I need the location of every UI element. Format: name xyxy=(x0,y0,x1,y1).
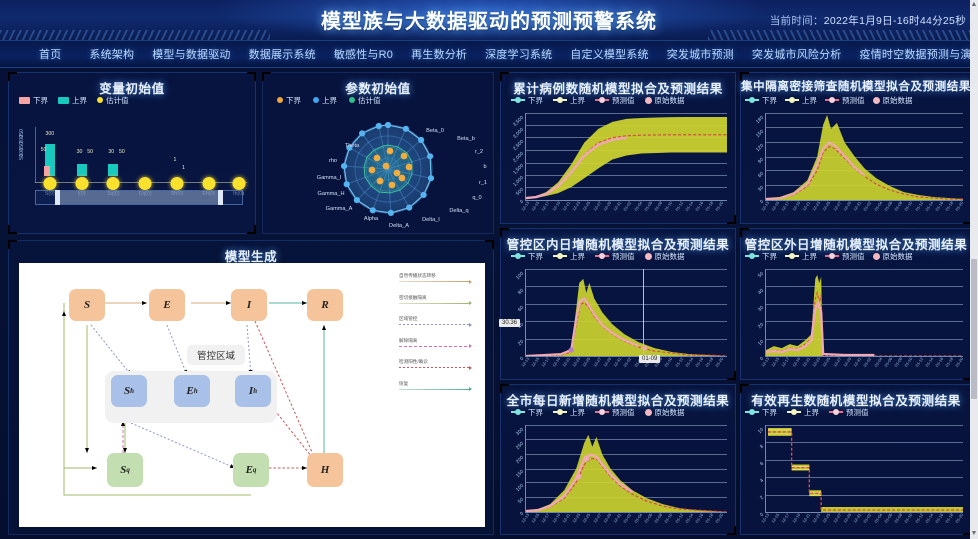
legend-label: 预测值 xyxy=(612,407,635,418)
y-tick: 20 xyxy=(507,339,525,357)
corner-decoration xyxy=(8,225,17,234)
series-paths xyxy=(766,113,963,200)
legend-label: 预测值 xyxy=(612,251,635,262)
legend-label: 检测阳性/确诊 xyxy=(399,359,479,365)
panel-chart-effective-reproduction: 有效再生数随机模型拟合及预测结果 下界 上界 预测值 10 8 6 4 2 0 xyxy=(740,384,972,535)
series-paths xyxy=(526,113,727,200)
legend-line-icon xyxy=(399,303,471,304)
series-paths xyxy=(766,269,963,356)
x-axis-ticks: 12-1312-15 12-1712-19 12-2112-23 12-2512… xyxy=(765,513,963,530)
estimate-point[interactable] xyxy=(202,177,215,190)
legend-label: 上界 xyxy=(570,95,585,106)
legend-item-predicted[interactable]: 预测值 xyxy=(595,251,635,262)
radar-axis-label-alpha: Alpha xyxy=(364,216,378,222)
legend-label: 下界 xyxy=(528,95,543,106)
radar-axis-label-r2: r_2 xyxy=(475,149,483,155)
zoom-slider-handle-right[interactable] xyxy=(218,190,223,205)
node-label: E xyxy=(186,385,193,397)
value-label: 1 xyxy=(182,165,185,171)
node-label: I xyxy=(247,299,251,311)
main-nav: 首页 系统架构 模型与数据驱动 数据展示系统 敏感性与R0 再生数分析 深度学习… xyxy=(0,40,978,68)
nav-item-home[interactable]: 首页 xyxy=(36,44,64,64)
y-tick: 2 xyxy=(747,495,765,513)
legend-swatch-icon xyxy=(645,253,652,260)
legend-label: 预测值 xyxy=(842,95,865,106)
nav-item-architecture[interactable]: 系统架构 xyxy=(86,44,137,64)
legend-item-predicted[interactable]: 预测值 xyxy=(829,407,869,418)
value-label: 50 xyxy=(41,147,47,153)
legend-label: 下界 xyxy=(33,95,48,106)
chart-title-outside-zone: 管控区外日增随机模型拟合及预测结果 xyxy=(741,229,971,249)
nav-item-sensitivity-r0[interactable]: 敏感性与R0 xyxy=(331,44,396,64)
legend-line-icon xyxy=(399,367,471,368)
nav-item-reproduction[interactable]: 再生数分析 xyxy=(408,44,470,64)
legend-item-raw[interactable]: 原始数据 xyxy=(645,95,685,106)
series-paths xyxy=(526,425,727,512)
scroll-down-arrow-icon[interactable]: ▼ xyxy=(970,529,978,539)
chart-outside-zone[interactable]: 50 40 30 20 10 0 12-1312-15 xyxy=(741,263,971,375)
x-axis-ticks: 12-1312-15 12-1712-19 12-2112-23 12-2512… xyxy=(765,201,963,218)
value-label: 50 xyxy=(119,149,125,155)
panel-chart-central-quarantine: 集中隔离密接筛查随机模型拟合及预测结果 下界 上界 预测值 原始数据 180 1… xyxy=(740,72,972,224)
legend-item-upper[interactable]: 上界 xyxy=(553,407,585,418)
legend-swatch-icon xyxy=(873,253,880,260)
page-scrollbar[interactable]: ▲ ▼ xyxy=(970,0,978,539)
legend-item-upper[interactable]: 上界 xyxy=(787,407,819,418)
legend-item-estimate[interactable]: 估计值 xyxy=(97,95,129,106)
corner-decoration xyxy=(247,225,256,234)
y-tick: 6 xyxy=(747,461,765,479)
legend-label: 区域管控 xyxy=(399,316,479,322)
legend-line-icon xyxy=(787,411,801,413)
y-tick: 8 xyxy=(747,444,765,462)
legend-line-icon xyxy=(825,255,839,257)
nav-item-city-risk[interactable]: 突发城市风险分析 xyxy=(749,44,845,64)
corner-decoration xyxy=(247,72,256,81)
node-subscript: q xyxy=(253,466,257,474)
radar-axis-label-gammaa: Gamma_A xyxy=(326,206,353,212)
legend-line-icon xyxy=(399,346,471,347)
legend-item-upper[interactable]: 上界 xyxy=(553,95,585,106)
nav-item-data-display[interactable]: 数据展示系统 xyxy=(246,44,319,64)
legend-line-icon xyxy=(553,255,567,257)
model-node-H[interactable]: H xyxy=(307,453,343,487)
y-tick: 20 xyxy=(747,322,765,340)
zoom-slider-selection[interactable] xyxy=(55,191,224,204)
chart-city-daily[interactable]: 300 250 200 150 100 50 0 xyxy=(501,419,735,531)
legend-item-raw[interactable]: 原始数据 xyxy=(873,251,913,262)
node-label: H xyxy=(321,464,330,476)
x-axis-ticks: 12-1312-15 12-1712-19 12-2112-23 12-2512… xyxy=(765,357,963,374)
legend-label: 预测值 xyxy=(612,95,635,106)
plot-area xyxy=(525,269,727,357)
legend-line-icon xyxy=(399,281,471,282)
panel-title-model-generation: 模型生成 xyxy=(9,241,493,261)
legend-row-positive-confirmed: 检测阳性/确诊 xyxy=(399,359,479,368)
plot-area xyxy=(525,113,727,201)
plot-area xyxy=(765,113,963,201)
legend-label: 原始数据 xyxy=(655,251,685,262)
model-node-Sh[interactable]: Sh xyxy=(111,375,147,407)
legend-row-recovery: 恢复 xyxy=(399,381,479,390)
radar-axis-label-gammah: Gamma_H xyxy=(317,191,344,197)
plot-area: 300 50 30 50 30 50 1 1 S(0) I(0) Sq(0) E… xyxy=(35,127,247,197)
legend-swatch-icon xyxy=(645,409,652,416)
corner-decoration xyxy=(485,240,494,249)
chart-zoom-slider[interactable] xyxy=(35,190,243,205)
legend-item-lower[interactable]: 下界 xyxy=(745,95,777,106)
value-label: 300 xyxy=(46,131,55,137)
legend-swatch-icon xyxy=(873,97,880,104)
legend-item-raw[interactable]: 原始数据 xyxy=(645,251,685,262)
lower-bar xyxy=(44,166,50,176)
panel-chart-city-daily: 全市每日新增随机模型拟合及预测结果 下界 上界 预测值 原始数据 300 250… xyxy=(500,384,736,535)
node-label: E xyxy=(163,299,170,311)
legend-label: 下界 xyxy=(286,95,301,106)
current-time-label: 当前时间： xyxy=(770,15,824,27)
model-node-I[interactable]: I xyxy=(231,289,267,321)
legend-central-quarantine: 下界 上界 预测值 原始数据 xyxy=(741,93,971,107)
estimate-point[interactable] xyxy=(139,177,152,190)
nav-item-custom-model[interactable]: 自定义模型系统 xyxy=(567,44,651,64)
radar-axis-label-gammai: Gamma_I xyxy=(317,175,342,181)
corner-decoration xyxy=(8,72,17,81)
legend-line-icon xyxy=(825,99,839,101)
legend-label: 上界 xyxy=(72,95,87,106)
series-paths xyxy=(766,425,963,512)
legend-line-icon xyxy=(785,99,799,101)
legend-label: 上界 xyxy=(570,407,585,418)
y-tick: 100 xyxy=(507,271,525,289)
legend-row-close-contact-quarantine: 密切接触隔离 xyxy=(399,295,479,304)
legend-label: 下界 xyxy=(528,407,543,418)
legend-line-icon xyxy=(511,411,525,413)
legend-parameter-init: 下界 上界 估计值 xyxy=(263,93,493,107)
legend-line-icon xyxy=(745,411,759,413)
legend-label: 上界 xyxy=(802,95,817,106)
y-tick: 80 xyxy=(507,288,525,306)
legend-item-predicted[interactable]: 预测值 xyxy=(595,407,635,418)
legend-swatch-icon xyxy=(645,97,652,104)
node-subscript: h xyxy=(253,387,257,395)
y-axis-ticks: 250 200 150 100 50 xyxy=(13,135,31,166)
legend-item-predicted[interactable]: 预测值 xyxy=(825,251,865,262)
radar-axis-label-beta0: Beta_0 xyxy=(426,128,444,134)
legend-line-icon xyxy=(829,411,843,413)
model-node-Sq[interactable]: Sq xyxy=(107,453,143,487)
chart-title-central-quarantine: 集中隔离密接筛查随机模型拟合及预测结果 xyxy=(741,73,971,93)
node-label: S xyxy=(84,299,90,311)
legend-label: 解除隔离 xyxy=(399,338,479,344)
legend-label: 下界 xyxy=(762,407,777,418)
node-subscript: h xyxy=(130,387,134,395)
legend-label: 上界 xyxy=(802,251,817,262)
controlled-zone-label: 管控区域 xyxy=(187,345,245,365)
model-node-Eh[interactable]: Eh xyxy=(174,375,210,407)
nav-item-deep-learning[interactable]: 深度学习系统 xyxy=(482,44,555,64)
legend-label: 上界 xyxy=(322,95,337,106)
legend-line-icon xyxy=(399,324,471,325)
y-tick: 10 xyxy=(747,427,765,445)
chart-parameter-radar[interactable]: Beta_0 Beta_b r_2 b r_1 q_0 Delta_q Delt… xyxy=(263,107,493,232)
node-label: R xyxy=(321,299,328,311)
node-subscript: q xyxy=(126,466,130,474)
y-tick: 30 xyxy=(747,305,765,323)
radar-axis-label-betab: Beta_b xyxy=(457,136,475,142)
legend-item-lower[interactable]: 下界 xyxy=(745,407,777,418)
dashboard-root: 模型族与大数据驱动的预测预警系统 当前时间：2022年1月9日-16时44分25… xyxy=(0,0,978,539)
legend-item-estimate[interactable]: 估计值 xyxy=(349,95,381,106)
legend-item-raw[interactable]: 原始数据 xyxy=(645,407,685,418)
legend-label: 恢复 xyxy=(399,381,479,387)
legend-item-upper[interactable]: 上界 xyxy=(553,251,585,262)
legend-label: 下界 xyxy=(762,95,777,106)
value-label: 50 xyxy=(87,149,93,155)
nav-item-model-data-driven[interactable]: 模型与数据驱动 xyxy=(149,44,233,64)
legend-item-upper[interactable]: 上界 xyxy=(785,251,817,262)
legend-row-zone-control: 区域管控 xyxy=(399,316,479,325)
y-tick: 40 xyxy=(747,288,765,306)
panel-title-variable-init: 变量初始值 xyxy=(9,73,255,93)
legend-item-lower[interactable]: 下界 xyxy=(511,95,543,106)
app-header: 模型族与大数据驱动的预测预警系统 当前时间：2022年1月9日-16时44分25… xyxy=(0,0,978,40)
nav-item-city-forecast[interactable]: 突发城市预测 xyxy=(664,44,737,64)
value-label: 30 xyxy=(108,149,114,155)
radar-axis-label-r1: r_1 xyxy=(479,180,487,186)
legend-line-icon xyxy=(745,99,759,101)
corner-decoration xyxy=(500,228,509,237)
legend-line-icon xyxy=(595,99,609,101)
legend-item-upper[interactable]: 上界 xyxy=(785,95,817,106)
chart-title-inside-zone: 管控区内日增随机模型拟合及预测结果 xyxy=(501,229,735,249)
model-diagram[interactable]: S E I R 管控区域 Sh Eh Ih Sq Eq H 自然传播状态转移 xyxy=(19,263,485,527)
chart-central-quarantine[interactable]: 180 150 120 90 60 30 0 xyxy=(741,107,971,219)
legend-swatch-icon xyxy=(97,97,103,103)
legend-label: 预测值 xyxy=(842,251,865,262)
legend-label: 估计值 xyxy=(358,95,381,106)
radar-axis-label-theta: Theta xyxy=(345,143,359,149)
plot-area xyxy=(765,425,963,513)
legend-item-predicted[interactable]: 预测值 xyxy=(595,95,635,106)
legend-item-upper[interactable]: 上界 xyxy=(58,95,87,106)
legend-label: 下界 xyxy=(762,251,777,262)
legend-label: 原始数据 xyxy=(883,251,913,262)
legend-label: 原始数据 xyxy=(655,95,685,106)
estimate-point[interactable] xyxy=(43,177,56,190)
radar-axis-label-b: b xyxy=(483,164,486,170)
legend-item-predicted[interactable]: 预测值 xyxy=(825,95,865,106)
model-node-E[interactable]: E xyxy=(149,289,185,321)
model-node-S[interactable]: S xyxy=(69,289,105,321)
legend-swatch-icon xyxy=(19,97,30,104)
x-axis-ticks: 12-1312-15 12-1712-19 12-2112-23 12-2512… xyxy=(525,201,727,218)
panel-chart-inside-zone: 管控区内日增随机模型拟合及预测结果 下界 上界 预测值 原始数据 100 80 … xyxy=(500,228,736,380)
upper-bar xyxy=(108,164,118,176)
x-marker-label: 01-09 xyxy=(639,355,660,363)
plot-area xyxy=(525,425,727,513)
legend-line-icon xyxy=(785,255,799,257)
panel-chart-outside-zone: 管控区外日增随机模型拟合及预测结果 下界 上界 预测值 原始数据 50 40 3… xyxy=(740,228,972,380)
nav-item-spatiotemporal[interactable]: 疫情时空数据预测与演示 xyxy=(857,44,978,64)
corner-decoration xyxy=(8,240,17,249)
legend-swatch-icon xyxy=(277,97,283,103)
legend-label: 密切接触隔离 xyxy=(399,295,479,301)
model-diagram-legend: 自然传播状态转移 密切接触隔离 区域管控 解除隔离 xyxy=(399,273,479,402)
series-paths xyxy=(526,269,727,356)
model-node-Ih[interactable]: Ih xyxy=(235,375,271,407)
legend-line-icon xyxy=(745,255,759,257)
legend-line-icon xyxy=(511,99,525,101)
legend-swatch-icon xyxy=(58,97,69,104)
node-subscript: h xyxy=(194,387,198,395)
y-tick: 50 xyxy=(747,271,765,289)
scrollbar-thumb[interactable] xyxy=(971,259,977,399)
estimate-point[interactable] xyxy=(75,177,88,190)
panel-model-generation: 模型生成 xyxy=(8,240,494,535)
legend-item-raw[interactable]: 原始数据 xyxy=(873,95,913,106)
legend-label: 上界 xyxy=(570,251,585,262)
value-label: 30 xyxy=(77,149,83,155)
dashboard-body: 变量初始值 下界 上界 估计值 250 200 xyxy=(0,68,978,539)
legend-label: 上界 xyxy=(804,407,819,418)
legend-item-lower[interactable]: 下界 xyxy=(19,95,48,106)
panel-parameter-init: 参数初始值 下界 上界 估计值 xyxy=(262,72,494,234)
y-tick: 50 xyxy=(19,154,25,172)
chart-effective-reproduction[interactable]: 10 8 6 4 2 0 xyxy=(741,419,971,531)
legend-label: 原始数据 xyxy=(655,407,685,418)
estimate-point[interactable] xyxy=(171,177,184,190)
radar-axis-label-q0: q_0 xyxy=(472,195,481,201)
legend-label: 自然传播状态转移 xyxy=(399,273,479,279)
legend-line-icon xyxy=(399,389,471,390)
legend-swatch-icon xyxy=(313,97,319,103)
panel-chart-cumulative-cases: 累计病例数随机模型拟合及预测结果 下界 上界 预测值 原始数据 3,500 3,… xyxy=(500,72,736,224)
panel-title-parameter-init: 参数初始值 xyxy=(263,73,493,93)
legend-item-upper[interactable]: 上界 xyxy=(313,95,337,106)
model-node-R[interactable]: R xyxy=(307,289,343,321)
estimate-point[interactable] xyxy=(232,177,245,190)
legend-item-lower[interactable]: 下界 xyxy=(511,407,543,418)
legend-row-natural-transfer: 自然传播状态转移 xyxy=(399,273,479,282)
y-axis-line xyxy=(35,127,36,183)
radar-axis-label-rho: rho xyxy=(329,158,337,164)
current-time: 当前时间：2022年1月9日-16时44分25秒 xyxy=(770,13,966,28)
panel-variable-init: 变量初始值 下界 上界 估计值 250 200 xyxy=(8,72,256,234)
corner-decoration xyxy=(740,384,749,393)
corner-decoration xyxy=(740,228,749,237)
zoom-slider-handle-left[interactable] xyxy=(55,190,60,205)
model-node-Eq[interactable]: Eq xyxy=(233,453,269,487)
legend-line-icon xyxy=(595,411,609,413)
corner-decoration xyxy=(500,384,509,393)
chart-title-city-daily: 全市每日新增随机模型拟合及预测结果 xyxy=(501,385,735,405)
estimate-point[interactable] xyxy=(107,177,120,190)
corner-decoration xyxy=(262,72,271,81)
current-time-value: 2022年1月9日-16时44分25秒 xyxy=(824,15,966,27)
value-label: 1 xyxy=(173,157,176,163)
legend-label: 原始数据 xyxy=(883,95,913,106)
legend-line-icon xyxy=(553,99,567,101)
radar-axis-label-deltaq: Delta_q xyxy=(449,208,468,214)
legend-line-icon xyxy=(553,411,567,413)
chart-inside-zone[interactable]: 100 80 60 40 20 0 30.36 xyxy=(501,263,735,375)
legend-label: 估计值 xyxy=(106,95,129,106)
upper-bar xyxy=(77,164,87,176)
legend-label: 预测值 xyxy=(846,407,869,418)
chart-cumulative-cases[interactable]: 3,500 3,000 2,500 2,000 1,500 1,000 500 … xyxy=(501,107,735,219)
legend-item-lower[interactable]: 下界 xyxy=(745,251,777,262)
chart-title-effective-reproduction: 有效再生数随机模型拟合及预测结果 xyxy=(741,385,971,405)
corner-decoration xyxy=(740,72,749,81)
radar-axis-label-deltaa: Delta_A xyxy=(389,223,409,229)
chart-title-cumulative-cases: 累计病例数随机模型拟合及预测结果 xyxy=(501,73,735,93)
legend-line-icon xyxy=(595,255,609,257)
corner-decoration xyxy=(500,72,509,81)
chart-variable-init[interactable]: 250 200 150 100 50 xyxy=(9,107,255,211)
legend-swatch-icon xyxy=(349,97,355,103)
x-axis-ticks: 12-1312-15 12-1712-19 12-2112-23 12-2512… xyxy=(525,357,727,374)
y-tick: 10 xyxy=(747,339,765,357)
plot-area xyxy=(765,269,963,357)
x-axis-ticks: 12-1312-15 12-1712-19 12-2112-23 12-2512… xyxy=(525,513,727,530)
radar-axis-label-deltai: Delta_I xyxy=(422,217,440,223)
legend-row-release-quarantine: 解除隔离 xyxy=(399,338,479,347)
legend-line-icon xyxy=(511,255,525,257)
legend-item-lower[interactable]: 下界 xyxy=(277,95,301,106)
tooltip-value: 30.36 xyxy=(499,319,520,327)
legend-label: 下界 xyxy=(528,251,543,262)
legend-item-lower[interactable]: 下界 xyxy=(511,251,543,262)
node-label: E xyxy=(246,464,253,476)
y-tick: 4 xyxy=(747,478,765,496)
